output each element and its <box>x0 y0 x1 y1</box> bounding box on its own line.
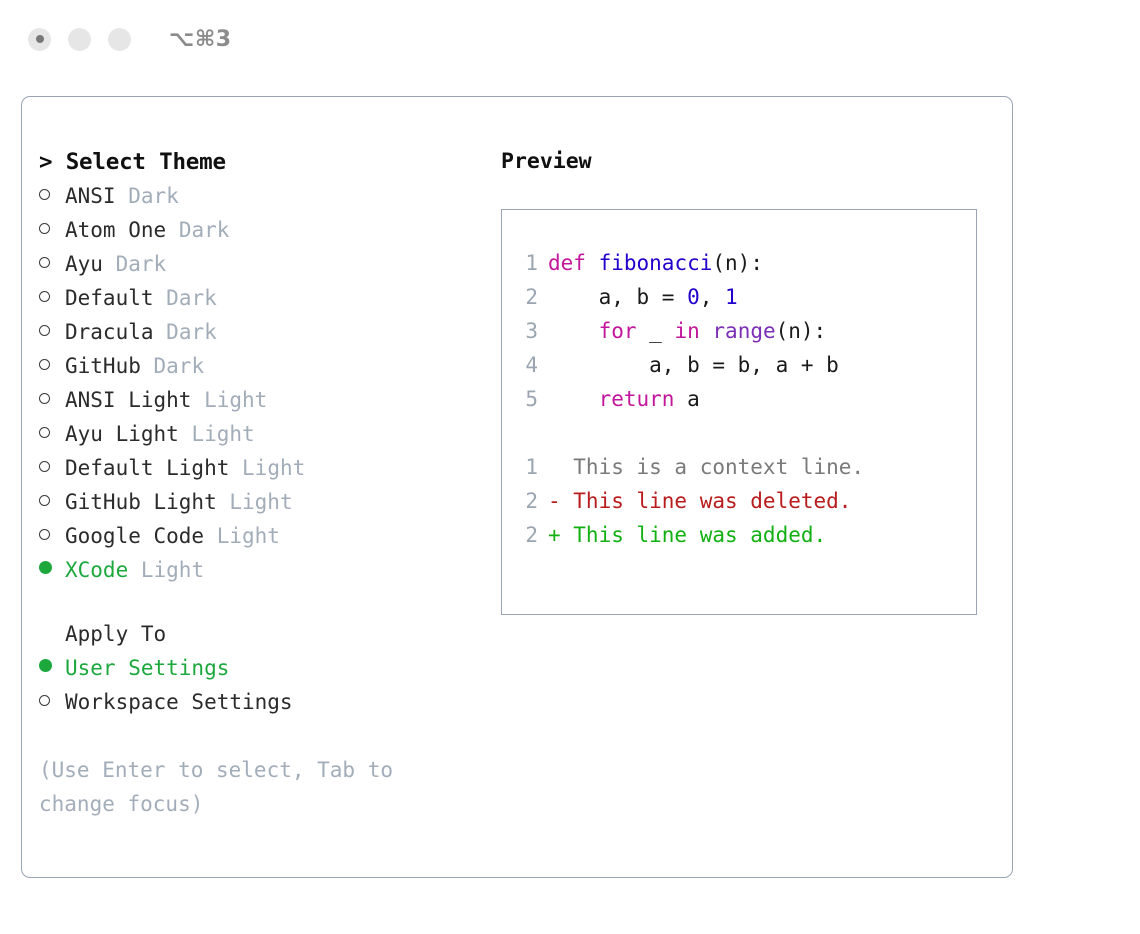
preview-box: 1def fibonacci(n):2 a, b = 0, 13 for _ i… <box>501 209 977 615</box>
theme-option-ayu[interactable]: Ayu Dark <box>39 247 492 281</box>
code-token-kw: for <box>599 319 637 343</box>
radio-unselected-icon <box>39 427 65 438</box>
line-number: 2 <box>502 280 548 314</box>
theme-variant-badge: Light <box>242 451 305 485</box>
spacer <box>229 451 242 485</box>
theme-variant-badge: Dark <box>116 247 167 281</box>
line-number: 2 <box>502 518 548 552</box>
window-control-maximize[interactable] <box>108 28 131 51</box>
spacer <box>103 247 116 281</box>
theme-option-label: Google Code <box>65 519 204 553</box>
radio-unselected-icon <box>39 359 65 370</box>
code-token-plain <box>548 319 599 343</box>
spacer <box>502 416 976 450</box>
theme-option-ansi[interactable]: ANSI Dark <box>39 179 492 213</box>
spacer <box>204 519 217 553</box>
code-token-plain: _ <box>637 319 675 343</box>
code-line-content: a, b = b, a + b <box>548 348 839 382</box>
line-number: 2 <box>502 484 548 518</box>
theme-list: ANSI DarkAtom One DarkAyu DarkDefault Da… <box>39 179 492 587</box>
theme-option-label: Default Light <box>65 451 229 485</box>
radio-unselected-icon <box>39 223 65 234</box>
theme-option-default[interactable]: Default Dark <box>39 281 492 315</box>
theme-option-label: Atom One <box>65 213 166 247</box>
window-control-close[interactable] <box>28 28 51 51</box>
radio-unselected-icon <box>39 393 65 404</box>
code-line-content: a, b = 0, 1 <box>548 280 738 314</box>
radio-glyph <box>39 529 50 540</box>
code-line: 4 a, b = b, a + b <box>502 348 976 382</box>
radio-glyph <box>39 257 50 268</box>
diff-line-content-ctx: This is a context line. <box>548 450 864 484</box>
line-number: 4 <box>502 348 548 382</box>
theme-variant-badge: Light <box>217 519 280 553</box>
radio-unselected-icon <box>39 461 65 472</box>
theme-option-label: Ayu <box>65 247 103 281</box>
line-number: 1 <box>502 246 548 280</box>
code-line: 2 a, b = 0, 1 <box>502 280 976 314</box>
diff-line: 1 This is a context line. <box>502 450 976 484</box>
title-bar: ⌥⌘3 <box>0 0 1140 78</box>
theme-variant-badge: Dark <box>154 349 205 383</box>
code-token-kw: in <box>674 319 699 343</box>
code-line: 1def fibonacci(n): <box>502 246 976 280</box>
code-token-kw: def <box>548 251 586 275</box>
theme-variant-badge: Dark <box>179 213 230 247</box>
radio-unselected-icon <box>39 325 65 336</box>
code-token-plain <box>548 387 599 411</box>
code-preview: 1def fibonacci(n):2 a, b = 0, 13 for _ i… <box>502 246 976 416</box>
keyboard-shortcut-label: ⌥⌘3 <box>169 27 232 52</box>
line-number: 3 <box>502 314 548 348</box>
code-token-bi: range <box>712 319 775 343</box>
spacer <box>154 281 167 315</box>
radio-glyph <box>39 223 50 234</box>
theme-option-label: Default <box>65 281 154 315</box>
radio-glyph <box>39 189 50 200</box>
theme-variant-badge: Dark <box>128 179 179 213</box>
window-controls <box>28 28 131 51</box>
radio-glyph <box>39 561 52 574</box>
theme-option-label: ANSI Light <box>65 383 191 417</box>
theme-option-dracula[interactable]: Dracula Dark <box>39 315 492 349</box>
theme-variant-badge: Light <box>191 417 254 451</box>
preview-column: Preview 1def fibonacci(n):2 a, b = 0, 13… <box>492 97 1012 877</box>
apply-to-option-label: User Settings <box>65 651 229 685</box>
theme-variant-badge: Dark <box>166 281 217 315</box>
code-token-kw: return <box>599 387 675 411</box>
spacer <box>217 485 230 519</box>
line-number: 5 <box>502 382 548 416</box>
spacer <box>191 383 204 417</box>
spacer <box>128 553 141 587</box>
diff-line: 2+ This line was added. <box>502 518 976 552</box>
radio-unselected-icon <box>39 495 65 506</box>
code-line-content: for _ in range(n): <box>548 314 826 348</box>
radio-glyph <box>39 659 52 672</box>
spacer <box>166 213 179 247</box>
theme-option-label: ANSI <box>65 179 116 213</box>
preview-heading: Preview <box>501 145 1012 179</box>
code-line: 3 for _ in range(n): <box>502 314 976 348</box>
radio-unselected-icon <box>39 695 65 706</box>
radio-glyph <box>39 695 50 706</box>
radio-selected-icon <box>39 561 65 574</box>
radio-glyph <box>39 359 50 370</box>
theme-variant-badge: Light <box>229 485 292 519</box>
spacer <box>39 587 492 617</box>
radio-glyph <box>39 393 50 404</box>
theme-picker-panel: > Select Theme ANSI DarkAtom One DarkAyu… <box>21 96 1013 878</box>
radio-selected-icon <box>39 659 65 672</box>
code-token-plain <box>586 251 599 275</box>
apply-to-option-label: Workspace Settings <box>65 685 293 719</box>
radio-glyph <box>39 325 50 336</box>
theme-option-ansi-light[interactable]: ANSI Light Light <box>39 383 492 417</box>
active-dot-icon <box>36 35 44 43</box>
diff-preview: 1 This is a context line.2- This line wa… <box>502 450 976 552</box>
line-number: 1 <box>502 450 548 484</box>
spacer <box>39 719 492 753</box>
apply-to-heading: Apply To <box>39 617 492 651</box>
code-token-num: 1 <box>725 285 738 309</box>
code-token-plain: a, b = <box>548 285 687 309</box>
theme-variant-badge: Light <box>141 553 204 587</box>
code-token-plain <box>700 319 713 343</box>
theme-option-github-light[interactable]: GitHub Light Light <box>39 485 492 519</box>
theme-option-github[interactable]: GitHub Dark <box>39 349 492 383</box>
radio-unselected-icon <box>39 257 65 268</box>
code-line-content: return a <box>548 382 700 416</box>
radio-unselected-icon <box>39 529 65 540</box>
radio-glyph <box>39 461 50 472</box>
theme-selection-column: > Select Theme ANSI DarkAtom One DarkAyu… <box>22 97 492 877</box>
code-line-content: def fibonacci(n): <box>548 246 763 280</box>
radio-glyph <box>39 291 50 302</box>
radio-glyph <box>39 427 50 438</box>
keyboard-hint-text: (Use Enter to select, Tab to change focu… <box>39 753 447 821</box>
diff-line-content-del: - This line was deleted. <box>548 484 851 518</box>
theme-option-label: XCode <box>65 553 128 587</box>
spacer <box>154 315 167 349</box>
theme-option-label: GitHub <box>65 349 141 383</box>
radio-unselected-icon <box>39 291 65 302</box>
diff-line-content-add: + This line was added. <box>548 518 826 552</box>
theme-option-google-code[interactable]: Google Code Light <box>39 519 492 553</box>
theme-option-label: GitHub Light <box>65 485 217 519</box>
code-token-plain: a, b = b, a + b <box>548 353 839 377</box>
theme-option-default-light[interactable]: Default Light Light <box>39 451 492 485</box>
code-token-plain: , <box>700 285 725 309</box>
apply-to-option-workspace-settings[interactable]: Workspace Settings <box>39 685 492 719</box>
code-token-num: 0 <box>687 285 700 309</box>
apply-to-list: User SettingsWorkspace Settings <box>39 651 492 719</box>
theme-option-ayu-light[interactable]: Ayu Light Light <box>39 417 492 451</box>
code-token-plain: (n): <box>712 251 763 275</box>
radio-glyph <box>39 495 50 506</box>
code-token-plain: (n): <box>776 319 827 343</box>
code-line: 5 return a <box>502 382 976 416</box>
apply-to-option-user-settings[interactable]: User Settings <box>39 651 492 685</box>
select-theme-heading: > Select Theme <box>39 145 492 179</box>
code-token-plain: a <box>674 387 699 411</box>
theme-option-label: Dracula <box>65 315 154 349</box>
theme-option-label: Ayu Light <box>65 417 179 451</box>
spacer <box>141 349 154 383</box>
window-control-minimize[interactable] <box>68 28 91 51</box>
theme-variant-badge: Light <box>204 383 267 417</box>
radio-unselected-icon <box>39 189 65 200</box>
diff-line: 2- This line was deleted. <box>502 484 976 518</box>
theme-variant-badge: Dark <box>166 315 217 349</box>
spacer <box>179 417 192 451</box>
spacer <box>116 179 129 213</box>
theme-option-xcode[interactable]: XCode Light <box>39 553 492 587</box>
code-token-fn: fibonacci <box>599 251 713 275</box>
theme-option-atom-one[interactable]: Atom One Dark <box>39 213 492 247</box>
